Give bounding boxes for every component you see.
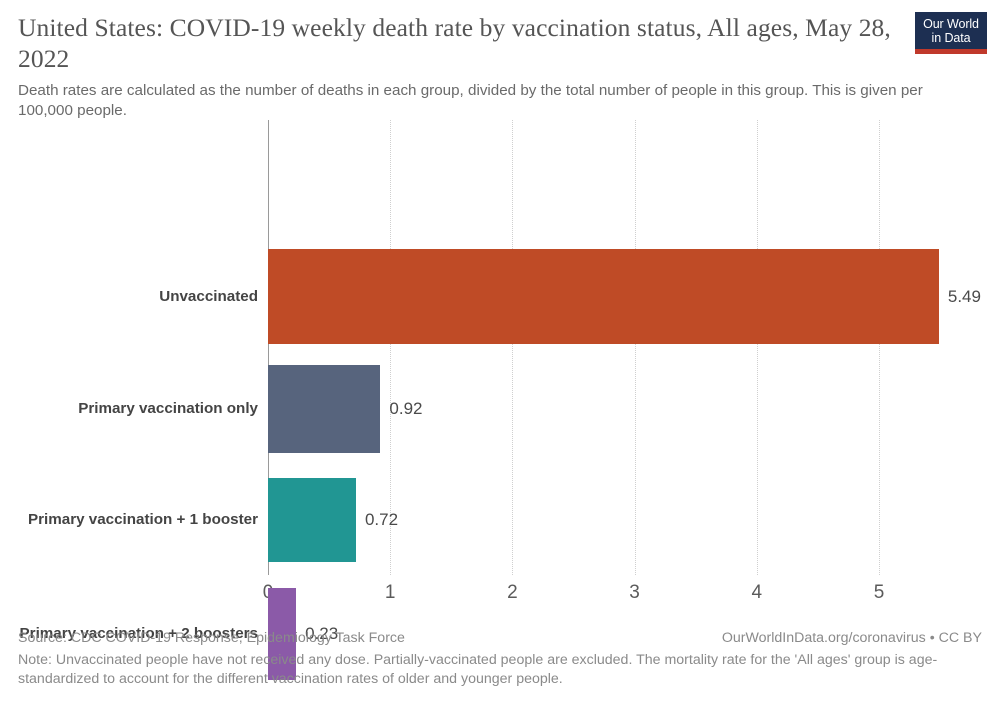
gridline-1 <box>390 120 392 575</box>
chart-header: United States: COVID-19 weekly death rat… <box>0 0 1000 121</box>
x-axis-tick-label: 4 <box>752 582 763 604</box>
category-label: Primary vaccination only <box>78 400 258 417</box>
bar-2[interactable] <box>268 365 380 453</box>
page-title: United States: COVID-19 weekly death rat… <box>18 12 898 74</box>
gridline-2 <box>512 120 514 575</box>
footnote-text: Note: Unvaccinated people have not recei… <box>18 651 982 689</box>
x-axis-tick-label: 5 <box>874 582 885 604</box>
bar-value-label: 0.72 <box>365 510 398 530</box>
logo-line-1: Our World <box>923 17 979 31</box>
x-axis-tick-label: 2 <box>507 582 518 604</box>
x-axis-tick-label: 3 <box>629 582 640 604</box>
bar-3[interactable] <box>268 478 356 562</box>
bar-value-label: 0.92 <box>389 399 422 419</box>
chart-footer: Source: CDC COVID-19 Response, Epidemiol… <box>0 630 1000 689</box>
bar-chart: 012345 5.490.920.720.23 UnvaccinatedPrim… <box>0 120 1000 625</box>
logo-box: Our World in Data <box>915 12 987 49</box>
gridline-4 <box>757 120 759 575</box>
our-world-in-data-logo[interactable]: Our World in Data <box>915 12 987 54</box>
category-label: Primary vaccination + 1 booster <box>28 511 258 528</box>
x-axis-tick-label: 1 <box>385 582 396 604</box>
bar-value-label: 5.49 <box>948 287 981 307</box>
logo-red-bar <box>915 49 987 54</box>
bar-1[interactable] <box>268 249 939 344</box>
gridline-5 <box>879 120 881 575</box>
chart-subtitle: Death rates are calculated as the number… <box>18 81 968 121</box>
footer-top-row: Source: CDC COVID-19 Response, Epidemiol… <box>18 630 982 646</box>
gridline-3 <box>635 120 637 575</box>
logo-line-2: in Data <box>932 31 971 45</box>
attribution-link[interactable]: OurWorldInData.org/coronavirus • CC BY <box>722 630 982 646</box>
source-text: Source: CDC COVID-19 Response, Epidemiol… <box>18 630 405 646</box>
plot-area: 012345 <box>268 120 990 575</box>
category-label: Unvaccinated <box>159 288 258 305</box>
